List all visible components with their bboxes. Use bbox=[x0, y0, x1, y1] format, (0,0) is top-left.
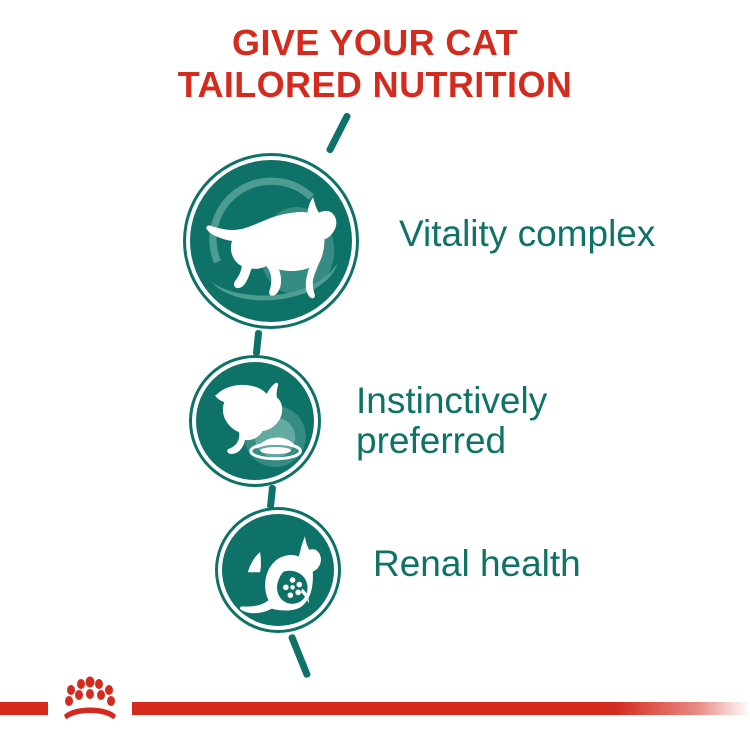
connector-dash-1 bbox=[253, 330, 263, 357]
feature-icon-vitality-complex bbox=[190, 160, 352, 322]
feature-icon-renal-health bbox=[222, 514, 334, 626]
connector-dash-2 bbox=[267, 485, 276, 510]
feature-label-instinctively-preferred: Instinctively preferred bbox=[356, 381, 547, 461]
page-title-line-2: TAILORED NUTRITION bbox=[0, 64, 750, 106]
connector-dash-bottom bbox=[288, 633, 312, 678]
page-title-line-1: GIVE YOUR CAT bbox=[0, 22, 750, 64]
walking-cat-icon bbox=[190, 160, 352, 322]
connector-dash-top bbox=[325, 112, 351, 154]
royal-canin-crown-icon bbox=[50, 676, 130, 722]
feature-icon-instinctively-preferred bbox=[196, 362, 314, 480]
poster-canvas: GIVE YOUR CAT TAILORED NUTRITION Vitalit… bbox=[0, 0, 750, 750]
cat-kidney-icon bbox=[222, 514, 334, 626]
feature-label-renal-health: Renal health bbox=[373, 544, 581, 584]
cat-eating-bowl-icon bbox=[196, 362, 314, 480]
feature-label-vitality-complex: Vitality complex bbox=[399, 214, 655, 254]
page-title: GIVE YOUR CAT TAILORED NUTRITION bbox=[0, 22, 750, 106]
